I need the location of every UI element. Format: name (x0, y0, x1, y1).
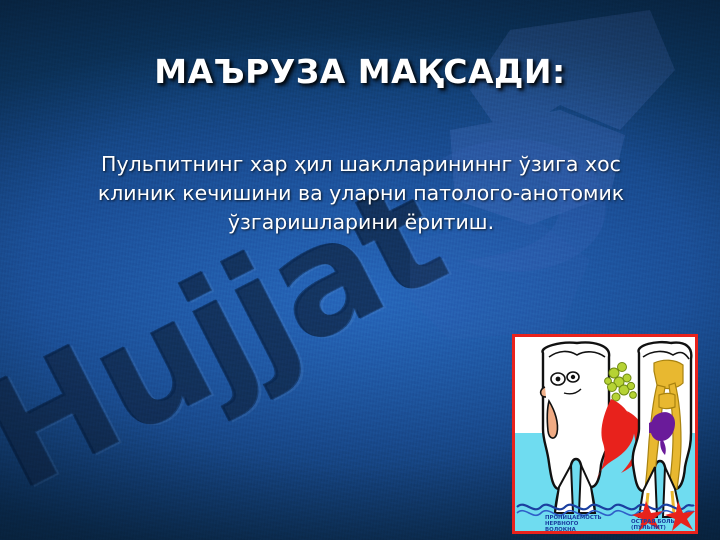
slide-body-text: Пульпитнинг хар ҳил шаклларининнг ўзига … (60, 150, 662, 237)
pulpitis-diagram-svg: ПРОНИЦАЕМОСТЬ НЕРВНОГО ВОЛОКНА ОСТРАЯ БО… (515, 337, 695, 531)
slide-title: МАЪРУЗА МАҚСАДИ: (0, 52, 720, 91)
caption-left-line3: ВОЛОКНА (545, 527, 577, 531)
pulpitis-illustration: ПРОНИЦАЕМОСТЬ НЕРВНОГО ВОЛОКНА ОСТРАЯ БО… (512, 334, 698, 534)
presentation-slide: Hujjat МАЪРУЗА МАҚСАДИ: Пульпитнинг хар … (0, 0, 720, 540)
caption-right-line2: (ПУЛЬПИТ) (631, 525, 666, 531)
